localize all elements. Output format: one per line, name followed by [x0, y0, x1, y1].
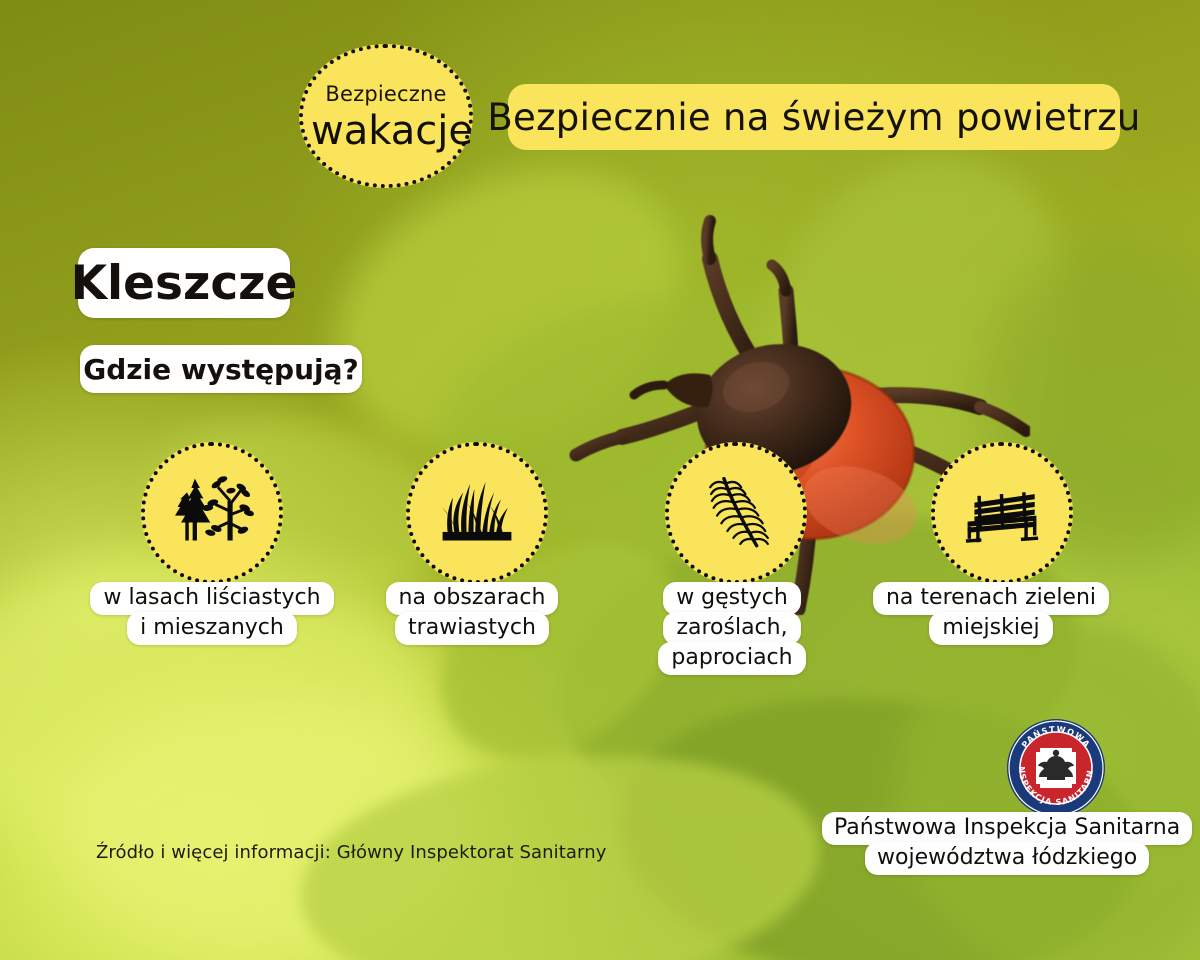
- grass-icon: [434, 470, 520, 556]
- source-note: Źródło i więcej informacji: Główny Inspe…: [96, 842, 607, 863]
- badge-line-1: Bezpieczne: [325, 82, 446, 106]
- caption-line: zaroślach,: [663, 612, 800, 645]
- caption-line: w lasach liściastych: [90, 582, 333, 615]
- page-headline: Bezpiecznie na świeżym powietrzu: [508, 84, 1120, 150]
- habitat-icon-grass: [406, 442, 548, 584]
- habitat-icon-fern: [665, 442, 807, 584]
- infographic-poster: Bezpieczne wakacje Bezpiecznie na świeży…: [0, 0, 1200, 960]
- holiday-safety-badge: Bezpieczne wakacje: [299, 44, 473, 188]
- caption-line: na terenach zieleni: [873, 582, 1109, 615]
- caption-line: paprociach: [658, 642, 805, 675]
- habitat-icon-trees: [141, 442, 283, 584]
- bench-icon: [959, 470, 1045, 556]
- page-subtitle: Gdzie występują?: [80, 345, 362, 393]
- caption-line: na obszarach: [386, 582, 559, 615]
- habitat-caption-bench: na terenach zieleni miejskiej: [880, 582, 1102, 645]
- habitat-caption-trees: w lasach liściastych i mieszanych: [96, 582, 328, 645]
- caption-line: trawiastych: [395, 612, 549, 645]
- caption-line: i mieszanych: [127, 612, 297, 645]
- page-title: Kleszcze: [78, 248, 290, 318]
- badge-line-2: wakacje: [311, 108, 473, 154]
- habitat-caption-grass: na obszarach trawiastych: [392, 582, 552, 645]
- habitat-icon-bench: [931, 442, 1073, 584]
- trees-icon: [169, 470, 255, 556]
- organisation-name: Państwowa Inspekcja Sanitarna województw…: [822, 812, 1192, 875]
- fern-icon: [693, 470, 779, 556]
- habitat-caption-fern: w gęstych zaroślach, paprociach: [668, 582, 796, 675]
- organisation-line: województwa łódzkiego: [865, 842, 1149, 875]
- caption-line: w gęstych: [663, 582, 801, 615]
- caption-line: miejskiej: [929, 612, 1052, 645]
- sanitary-inspection-logo: PAŃSTWOWA INSPEKCJA SANITARNA: [1006, 718, 1106, 818]
- organisation-line: Państwowa Inspekcja Sanitarna: [822, 812, 1192, 845]
